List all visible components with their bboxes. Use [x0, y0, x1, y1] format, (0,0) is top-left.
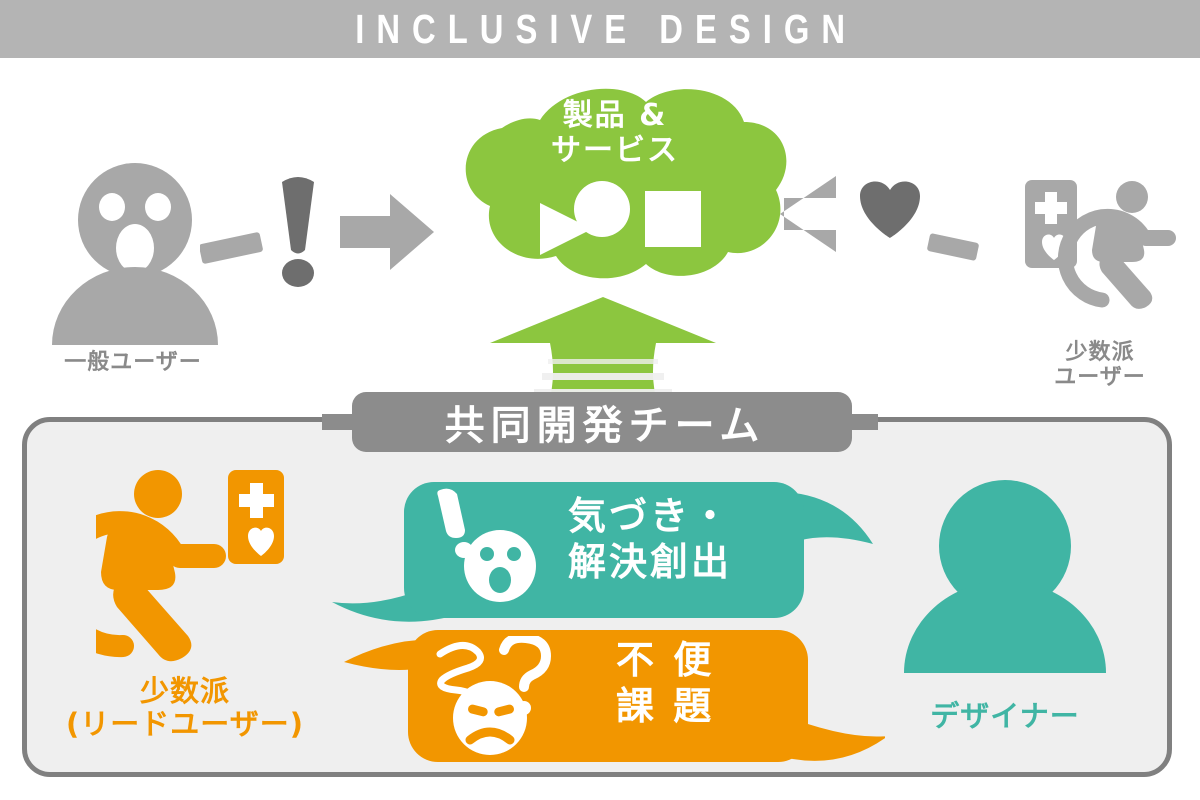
cloud-shape-icons — [440, 173, 790, 283]
minority-user-label-line2: ユーザー — [1000, 365, 1200, 390]
eye-left — [480, 547, 494, 561]
exclamation-mark-body — [437, 489, 465, 538]
circle-icon — [574, 181, 630, 237]
heart-icon — [860, 181, 920, 238]
wheelchair-head — [1116, 181, 1148, 213]
cloud-line-2: サービス — [440, 133, 790, 168]
header-bar: INCLUSIVE DESIGN — [0, 0, 1200, 58]
cloud-text-lines: 製品 & サービス — [440, 98, 790, 169]
emotion-dash — [927, 233, 980, 261]
bubble-problem-text: 不 便 課 題 — [616, 638, 866, 729]
arrow-right-icon — [340, 194, 434, 270]
exclamation-mark-dot — [282, 259, 314, 287]
square-icon — [645, 191, 701, 247]
team-banner-title: 共同開発チーム — [439, 393, 766, 451]
bubble-insight-text: 気づき・ 解決創出 — [568, 494, 848, 585]
lead-user-wheelchair-icon — [96, 470, 276, 670]
wheelchair-head — [134, 470, 182, 518]
lead-user-label: 少数派 (リードユーザー) — [20, 675, 350, 742]
lead-user-label-line1: 少数派 — [20, 675, 350, 708]
bubble-problem-face-group — [428, 636, 568, 756]
mouth-open — [116, 224, 154, 272]
wheelchair-user-icon-gray — [1046, 180, 1191, 315]
designer-avatar-icon — [898, 478, 1113, 673]
person-body — [904, 581, 1106, 673]
designer-label: デザイナー — [880, 700, 1130, 733]
cloud-line-1: 製品 & — [440, 98, 790, 133]
cloud-content: 製品 & サービス — [440, 78, 790, 293]
minority-user-label: 少数派 ユーザー — [1000, 340, 1200, 391]
question-mark-body — [504, 638, 546, 687]
bubble-insight-face-group — [432, 488, 542, 608]
bubble-insight-line2: 解決創出 — [568, 540, 848, 586]
minority-user-label-line1: 少数派 — [1000, 340, 1200, 365]
minority-user-emotion-group — [780, 176, 980, 276]
person-body — [52, 267, 218, 345]
team-banner: 共同開発チーム — [352, 392, 852, 452]
eye-right — [507, 547, 521, 561]
emotion-dash — [200, 232, 263, 264]
page-title: INCLUSIVE DESIGN — [343, 6, 857, 53]
general-user-emotion-group — [200, 170, 440, 300]
eye-right — [145, 193, 171, 221]
mouth-open — [489, 567, 511, 593]
bubble-insight-line1: 気づき・ — [568, 494, 848, 540]
bubble-problem-line2: 課 題 — [616, 684, 866, 730]
lead-user-label-line2: (リードユーザー) — [20, 708, 350, 741]
general-user-label: 一般ユーザー — [18, 344, 248, 376]
troubled-face-icon — [453, 681, 527, 755]
exclamation-mark-body — [282, 177, 314, 254]
eye-left — [99, 193, 125, 221]
bubble-problem-line1: 不 便 — [616, 638, 866, 684]
infographic-canvas: INCLUSIVE DESIGN 一般ユーザー 製品 & サービス — [0, 0, 1200, 800]
